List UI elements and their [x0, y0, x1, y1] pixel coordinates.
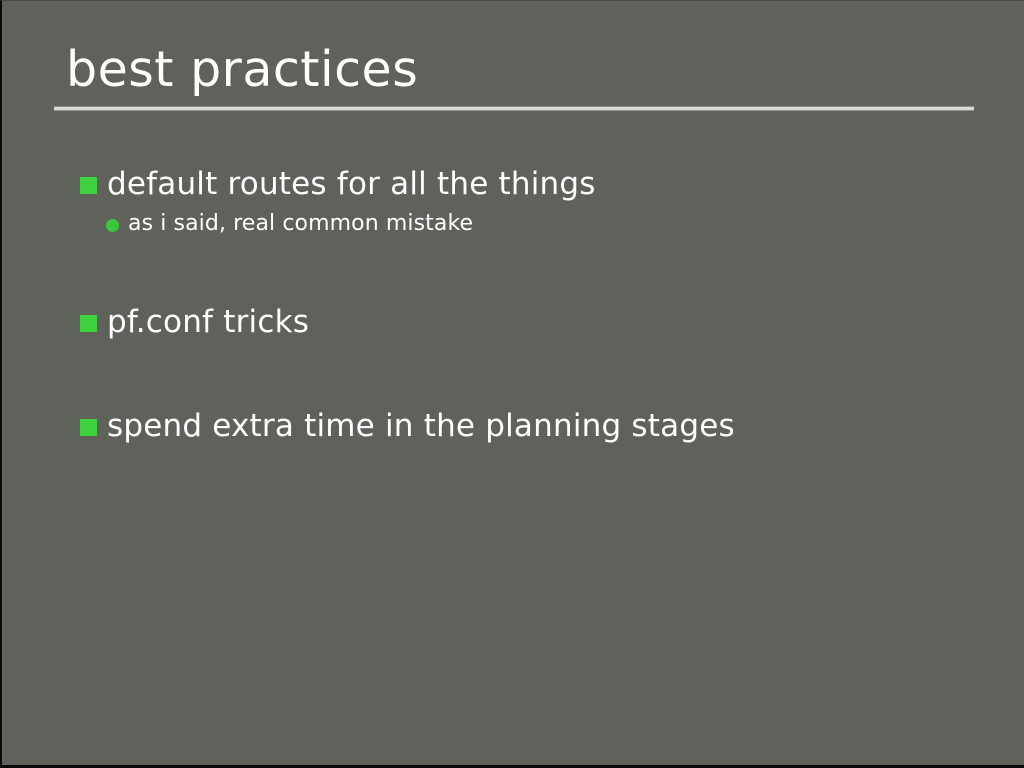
square-bullet-icon: [80, 419, 97, 436]
round-bullet-icon: [106, 219, 119, 232]
slide-title-block: best practices: [54, 41, 974, 111]
bullet-text-3: spend extra time in the planning stages: [107, 405, 735, 447]
list-item: pf.conf tricks: [80, 301, 980, 343]
sub-bullet-text-1-1: as i said, real common mistake: [128, 209, 473, 239]
list-item: spend extra time in the planning stages: [80, 405, 980, 447]
page-title: best practices: [54, 41, 974, 99]
bullet-text-2: pf.conf tricks: [107, 301, 309, 343]
list-item: default routes for all the things: [80, 163, 980, 205]
square-bullet-icon: [80, 177, 97, 194]
presentation-slide: best practices default routes for all th…: [0, 0, 1024, 768]
list-item: as i said, real common mistake: [106, 209, 980, 239]
title-divider: [54, 106, 974, 111]
bullet-text-1: default routes for all the things: [107, 163, 596, 205]
slide-body: default routes for all the things as i s…: [80, 163, 980, 509]
square-bullet-icon: [80, 315, 97, 332]
